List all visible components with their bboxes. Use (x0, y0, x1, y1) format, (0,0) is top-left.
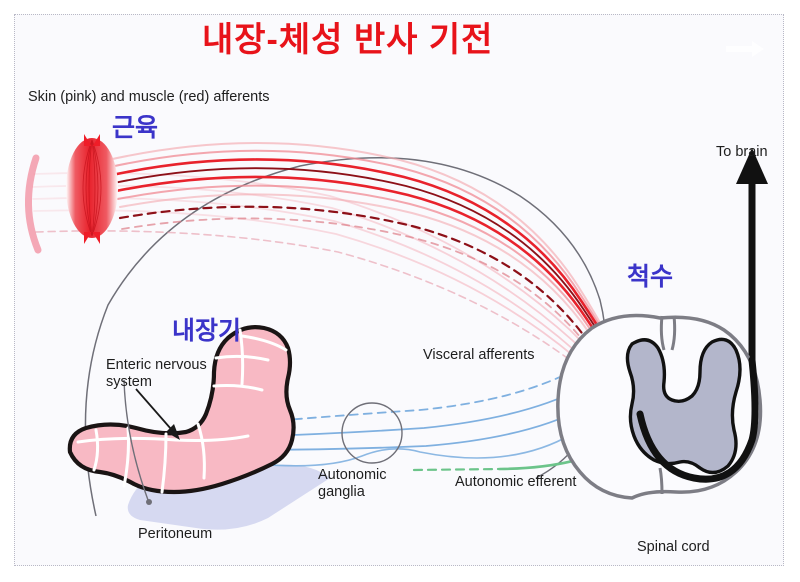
intestine (70, 327, 294, 492)
page-title: 내장-체성 반사 기전 (202, 20, 493, 60)
autonomic-ganglia-label: Autonomic ganglia (318, 467, 387, 501)
white-arrow-artifact (726, 41, 764, 57)
enteric-nervous-system-label: Enteric nervous system (106, 357, 207, 391)
muscle-korean-label: 근육 (112, 114, 158, 144)
autonomic-efferent-label: Autonomic efferent (455, 474, 576, 491)
spinal-cord-korean-label: 척수 (627, 263, 673, 293)
slide-canvas: 내장-체성 반사 기전 Skin (pink) and muscle (red)… (0, 0, 800, 582)
to-brain-label: To brain (716, 144, 768, 161)
skin-arc (28, 158, 38, 250)
visceral-afferents-label: Visceral afferents (423, 347, 535, 364)
spinal-cord-section (558, 316, 761, 498)
viscera-korean-label: 내장기 (172, 317, 241, 347)
peritoneum-label: Peritoneum (138, 526, 212, 543)
afferent-legend-label: Skin (pink) and muscle (red) afferents (28, 89, 270, 106)
spinal-cord-english-label: Spinal cord (637, 539, 710, 556)
to-brain-arrow-icon (736, 148, 768, 360)
reflex-diagram-illustration (0, 0, 800, 582)
skeletal-muscle (66, 134, 118, 244)
